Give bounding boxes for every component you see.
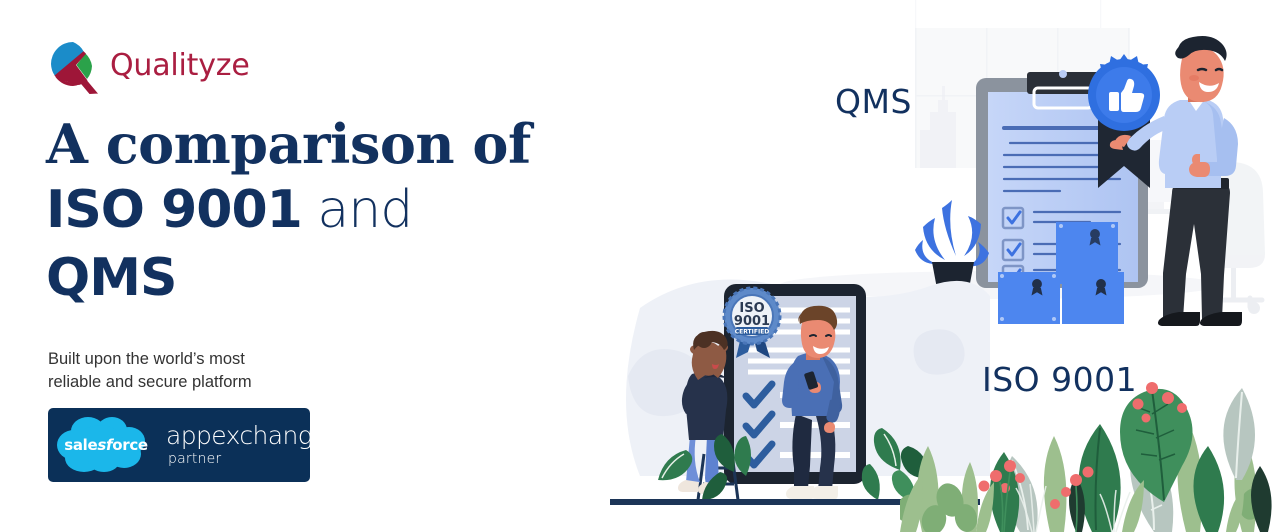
qualityze-magnifier-logo-icon xyxy=(46,38,100,94)
qms-label: QMS xyxy=(835,82,912,121)
brand-logo[interactable]: Qualityze xyxy=(46,38,250,94)
headline-line-3: QMS xyxy=(46,245,566,311)
partner-label: partner xyxy=(166,450,327,468)
appexchange-text-block: appexchange partner xyxy=(160,422,327,468)
headline-line-1: A comparison of xyxy=(46,113,566,175)
salesforce-cloud-icon: salesforce xyxy=(48,408,160,482)
svg-text:9001: 9001 xyxy=(734,314,770,329)
brand-name: Qualityze xyxy=(110,51,250,81)
salesforce-wordmark: salesforce xyxy=(48,408,160,482)
appexchange-label: appexchange xyxy=(166,422,327,450)
left-content-panel: Qualityze A comparison of ISO 9001 and Q… xyxy=(0,0,600,528)
headline-line-2: ISO 9001 and xyxy=(46,175,566,245)
subtitle-line-1: Built upon the world’s most xyxy=(48,348,348,371)
subtitle-line-2: reliable and secure platform xyxy=(48,371,348,394)
iso-9001-label: ISO 9001 xyxy=(982,360,1137,399)
subtitle: Built upon the world’s most reliable and… xyxy=(48,348,348,394)
illustration-area: QMS ISO 9001 xyxy=(590,0,1280,528)
headline-and-light: and xyxy=(302,180,412,240)
svg-text:CERTIFIED: CERTIFIED xyxy=(735,329,770,336)
salesforce-appexchange-partner-badge[interactable]: salesforce appexchange partner xyxy=(48,408,310,482)
headline-iso-strong: ISO 9001 xyxy=(46,180,302,240)
hero-banner: Qualityze A comparison of ISO 9001 and Q… xyxy=(0,0,1280,528)
page-title: A comparison of ISO 9001 and QMS xyxy=(46,113,566,311)
